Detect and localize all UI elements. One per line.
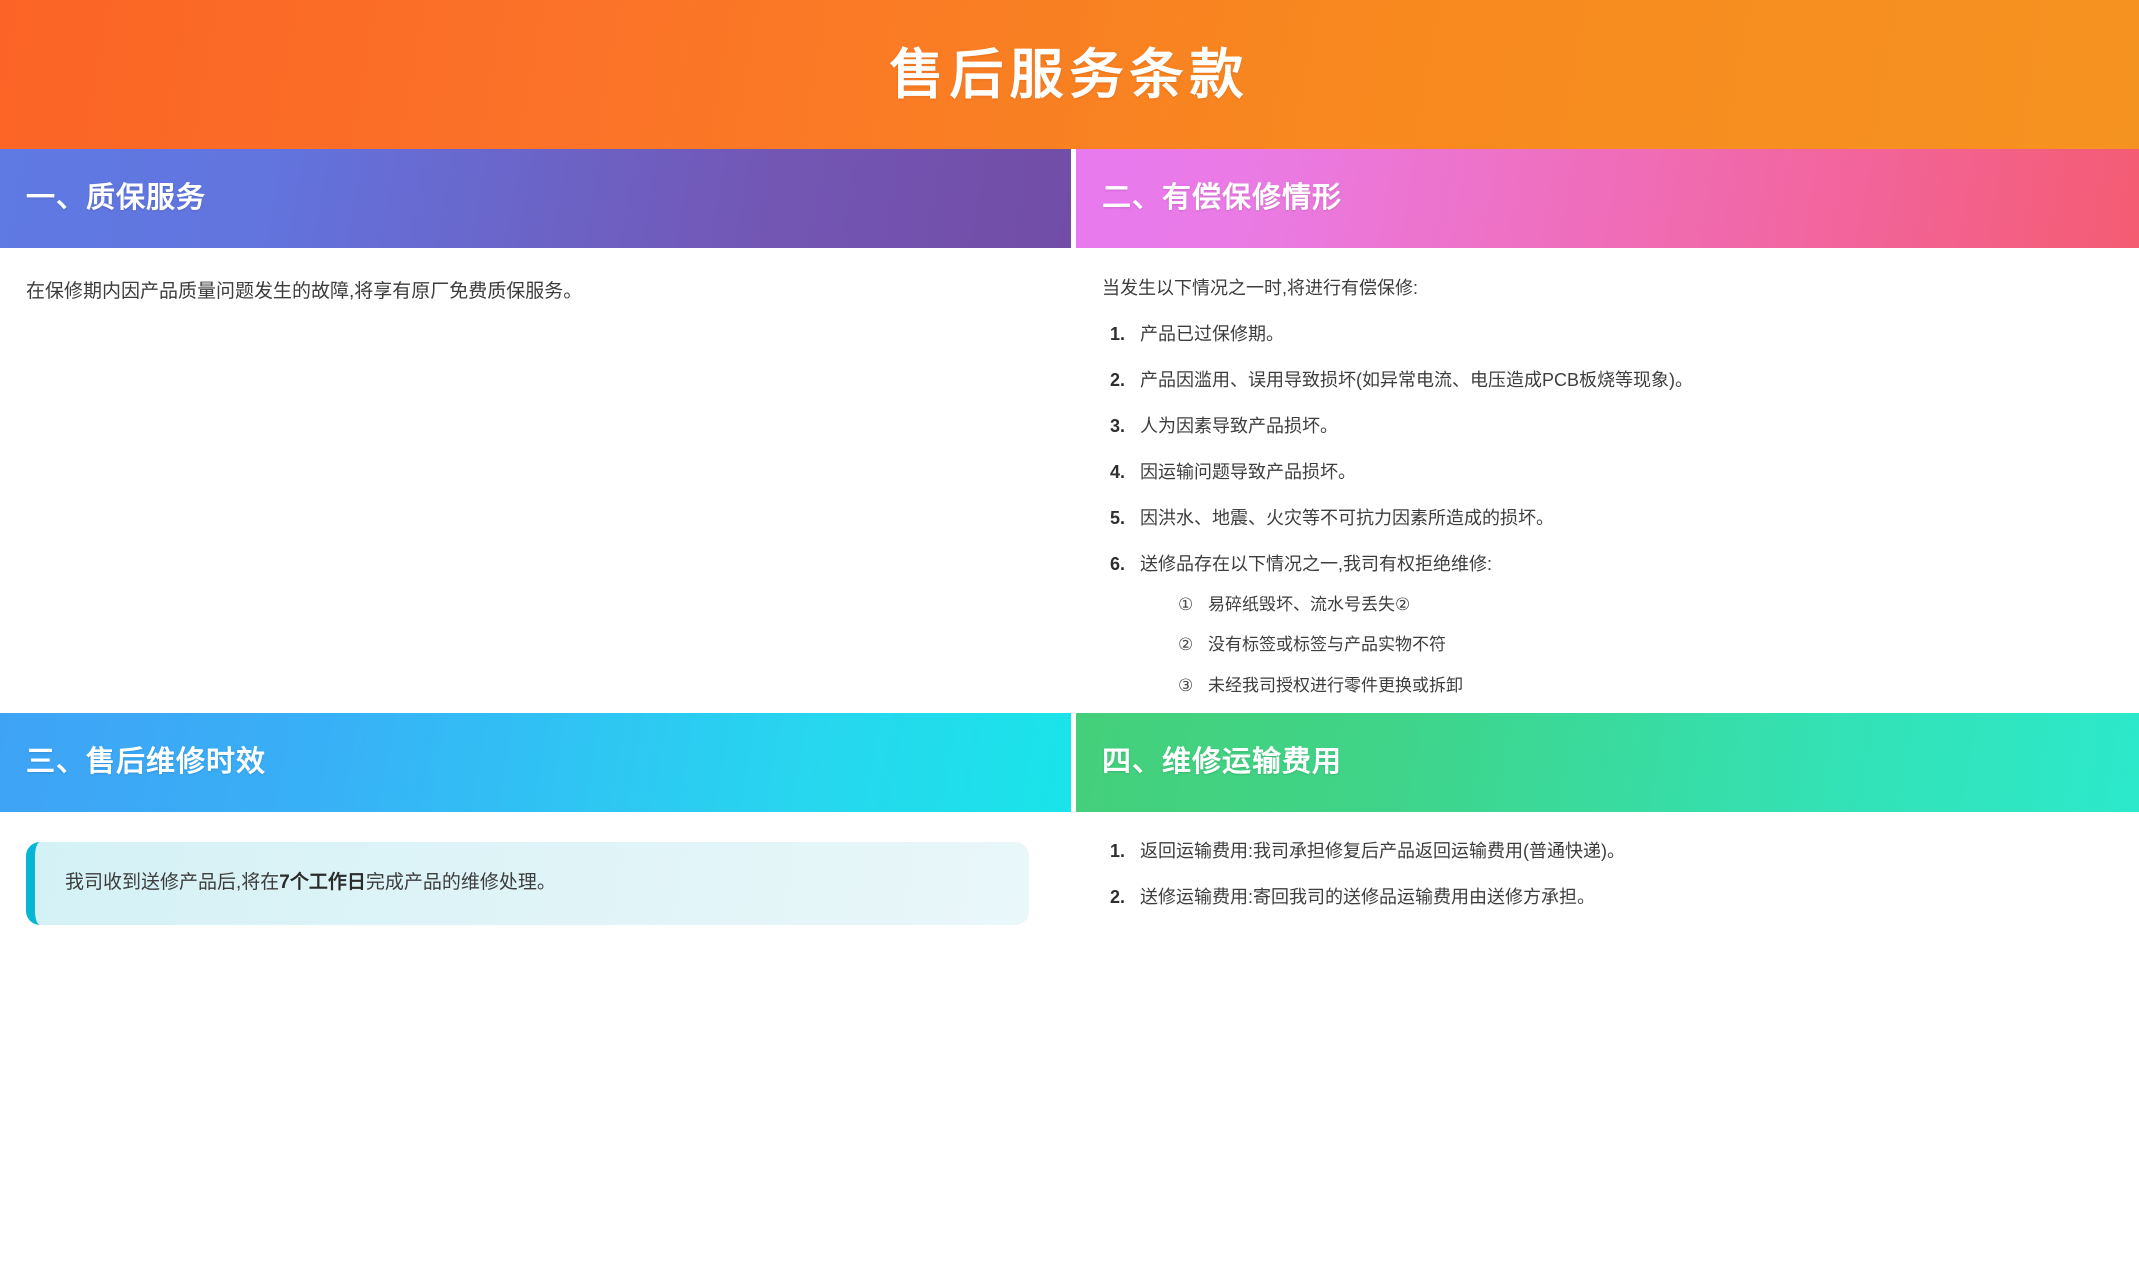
list-item: 1. 产品已过保修期。 bbox=[1102, 321, 2109, 348]
sub-list-item-marker: ① bbox=[1178, 592, 1208, 618]
list-item-text: 送修运输费用:寄回我司的送修品运输费用由送修方承担。 bbox=[1140, 884, 2109, 911]
section-warranty-title: 一、质保服务 bbox=[26, 184, 206, 213]
list-item-number: 2. bbox=[1102, 884, 1140, 911]
list-item-text: 因运输问题导致产品损坏。 bbox=[1140, 459, 2109, 486]
warranty-paragraph: 在保修期内因产品质量问题发生的故障,将享有原厂免费质保服务。 bbox=[26, 274, 1041, 310]
section-paid-repair-header: 二、有偿保修情形 bbox=[1076, 149, 2139, 248]
section-turnaround-title: 三、售后维修时效 bbox=[26, 748, 266, 777]
service-terms-page: 售后服务条款 一、质保服务 在保修期内因产品质量问题发生的故障,将享有原厂免费质… bbox=[0, 0, 2139, 927]
section-turnaround: 三、售后维修时效 我司收到送修产品后,将在 7个工作日 完成产品的维修处理。 bbox=[0, 713, 1071, 1272]
sub-list-item: ② 没有标签或标签与产品实物不符 bbox=[1140, 632, 2109, 658]
section-freight: 四、维修运输费用 1. 返回运输费用:我司承担修复后产品返回运输费用(普通快递)… bbox=[1076, 713, 2139, 1272]
list-item-number: 2. bbox=[1102, 367, 1140, 394]
section-paid-repair-body: 当发生以下情况之一时,将进行有偿保修: 1. 产品已过保修期。 2. 产品因滥用… bbox=[1076, 248, 2139, 708]
list-item: 2. 送修运输费用:寄回我司的送修品运输费用由送修方承担。 bbox=[1102, 884, 2109, 911]
section-freight-header: 四、维修运输费用 bbox=[1076, 713, 2139, 812]
list-item-number: 5. bbox=[1102, 505, 1140, 532]
paid-repair-sublist: ① 易碎纸毁坏、流水号丢失② ② 没有标签或标签与产品实物不符 ③ 未经我司授权… bbox=[1140, 592, 2109, 699]
sub-list-item-text: 未经我司授权进行零件更换或拆卸 bbox=[1208, 673, 2109, 699]
list-item: 2. 产品因滥用、误用导致损坏(如异常电流、电压造成PCB板烧等现象)。 bbox=[1102, 367, 2109, 394]
page-title: 售后服务条款 bbox=[890, 48, 1250, 102]
section-turnaround-body: 我司收到送修产品后,将在 7个工作日 完成产品的维修处理。 bbox=[0, 812, 1071, 1272]
section-freight-title: 四、维修运输费用 bbox=[1102, 748, 1342, 777]
sub-list-item: ① 易碎纸毁坏、流水号丢失② bbox=[1140, 592, 2109, 618]
page-banner: 售后服务条款 bbox=[0, 0, 2139, 149]
section-freight-body: 1. 返回运输费用:我司承担修复后产品返回运输费用(普通快递)。 2. 送修运输… bbox=[1076, 812, 2139, 1272]
callout-prefix: 我司收到送修产品后,将在 bbox=[65, 868, 279, 898]
callout-suffix: 完成产品的维修处理。 bbox=[366, 868, 556, 898]
list-item-text: 送修品存在以下情况之一,我司有权拒绝维修: bbox=[1140, 554, 1492, 574]
list-item: 3. 人为因素导致产品损坏。 bbox=[1102, 413, 2109, 440]
paid-repair-lead: 当发生以下情况之一时,将进行有偿保修: bbox=[1102, 274, 2109, 303]
list-item: 6. 送修品存在以下情况之一,我司有权拒绝维修: ① 易碎纸毁坏、流水号丢失② … bbox=[1102, 551, 2109, 699]
sub-list-item-text: 易碎纸毁坏、流水号丢失② bbox=[1208, 592, 2109, 618]
list-item-text: 产品因滥用、误用导致损坏(如异常电流、电压造成PCB板烧等现象)。 bbox=[1140, 367, 2109, 394]
sub-list-item-marker: ② bbox=[1178, 632, 1208, 658]
list-item-number: 4. bbox=[1102, 459, 1140, 486]
list-item-text: 返回运输费用:我司承担修复后产品返回运输费用(普通快递)。 bbox=[1140, 838, 2109, 865]
callout-emphasis: 7个工作日 bbox=[279, 868, 366, 898]
list-item-text-group: 送修品存在以下情况之一,我司有权拒绝维修: ① 易碎纸毁坏、流水号丢失② ② 没… bbox=[1140, 551, 2109, 699]
turnaround-callout: 我司收到送修产品后,将在 7个工作日 完成产品的维修处理。 bbox=[26, 842, 1029, 924]
list-item: 5. 因洪水、地震、火灾等不可抗力因素所造成的损坏。 bbox=[1102, 505, 2109, 532]
list-item-number: 1. bbox=[1102, 321, 1140, 348]
list-item: 4. 因运输问题导致产品损坏。 bbox=[1102, 459, 2109, 486]
section-warranty-body: 在保修期内因产品质量问题发生的故障,将享有原厂免费质保服务。 bbox=[0, 248, 1071, 708]
sub-list-item-text: 没有标签或标签与产品实物不符 bbox=[1208, 632, 2109, 658]
sub-list-item: ③ 未经我司授权进行零件更换或拆卸 bbox=[1140, 673, 2109, 699]
section-paid-repair-title: 二、有偿保修情形 bbox=[1102, 184, 1342, 213]
list-item-number: 6. bbox=[1102, 551, 1140, 578]
list-item-number: 1. bbox=[1102, 838, 1140, 865]
section-turnaround-header: 三、售后维修时效 bbox=[0, 713, 1071, 812]
section-paid-repair: 二、有偿保修情形 当发生以下情况之一时,将进行有偿保修: 1. 产品已过保修期。… bbox=[1076, 149, 2139, 708]
list-item: 1. 返回运输费用:我司承担修复后产品返回运输费用(普通快递)。 bbox=[1102, 838, 2109, 865]
paid-repair-list: 1. 产品已过保修期。 2. 产品因滥用、误用导致损坏(如异常电流、电压造成PC… bbox=[1102, 321, 2109, 699]
sub-list-item-marker: ③ bbox=[1178, 673, 1208, 699]
section-warranty: 一、质保服务 在保修期内因产品质量问题发生的故障,将享有原厂免费质保服务。 bbox=[0, 149, 1071, 708]
list-item-text: 产品已过保修期。 bbox=[1140, 321, 2109, 348]
sections-grid: 一、质保服务 在保修期内因产品质量问题发生的故障,将享有原厂免费质保服务。 二、… bbox=[0, 149, 2139, 1273]
freight-list: 1. 返回运输费用:我司承担修复后产品返回运输费用(普通快递)。 2. 送修运输… bbox=[1102, 838, 2109, 911]
list-item-text: 因洪水、地震、火灾等不可抗力因素所造成的损坏。 bbox=[1140, 505, 2109, 532]
section-warranty-header: 一、质保服务 bbox=[0, 149, 1071, 248]
list-item-text: 人为因素导致产品损坏。 bbox=[1140, 413, 2109, 440]
list-item-number: 3. bbox=[1102, 413, 1140, 440]
